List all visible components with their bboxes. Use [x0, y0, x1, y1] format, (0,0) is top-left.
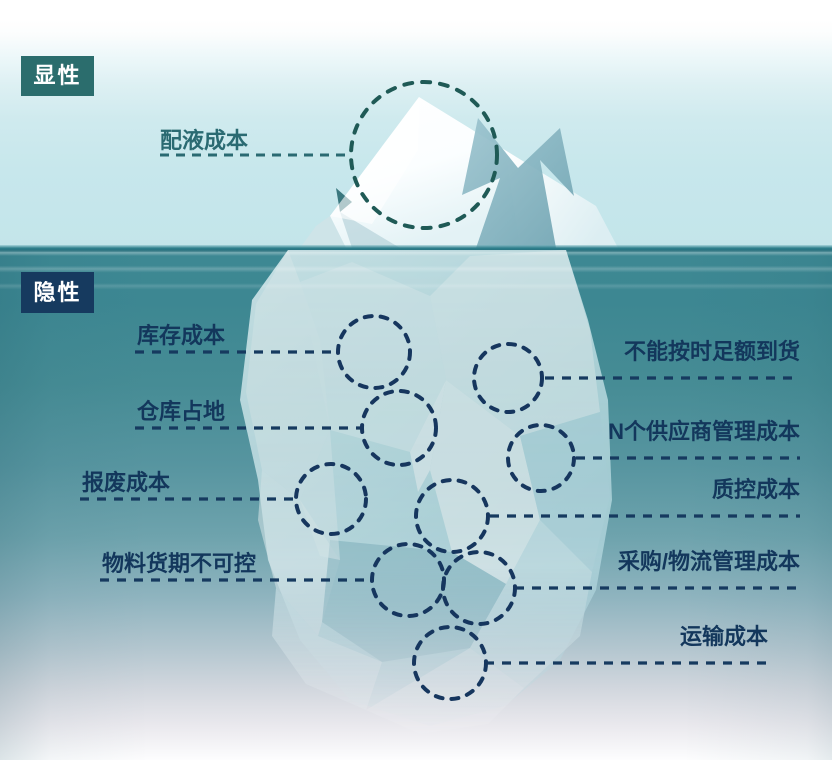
label-procurement-logistics: 采购/物流管理成本: [618, 551, 800, 573]
badge-visible-costs: 显性: [21, 56, 94, 96]
label-quality-control-cost: 质控成本: [712, 479, 800, 501]
label-inventory-cost: 库存成本: [137, 325, 225, 347]
badge-hidden-costs: 隐性: [21, 272, 94, 313]
label-material-lead-time: 物料货期不可控: [102, 553, 256, 575]
label-mixing-cost: 配液成本: [160, 130, 248, 152]
label-n-supplier-management: N个供应商管理成本: [608, 421, 800, 443]
label-scrap-cost: 报废成本: [82, 472, 170, 494]
badge-hidden-label: 隐性: [33, 282, 81, 304]
iceberg-cost-diagram: 显性 隐性 配液成本 库存成本 仓库占地 报废成本 物料货期不可控 不能按时足额…: [0, 0, 832, 760]
label-late-incomplete-delivery: 不能按时足额到货: [624, 341, 800, 363]
badge-visible-label: 显性: [33, 65, 81, 87]
label-warehouse-space: 仓库占地: [137, 401, 225, 423]
label-transport-cost: 运输成本: [680, 626, 768, 648]
